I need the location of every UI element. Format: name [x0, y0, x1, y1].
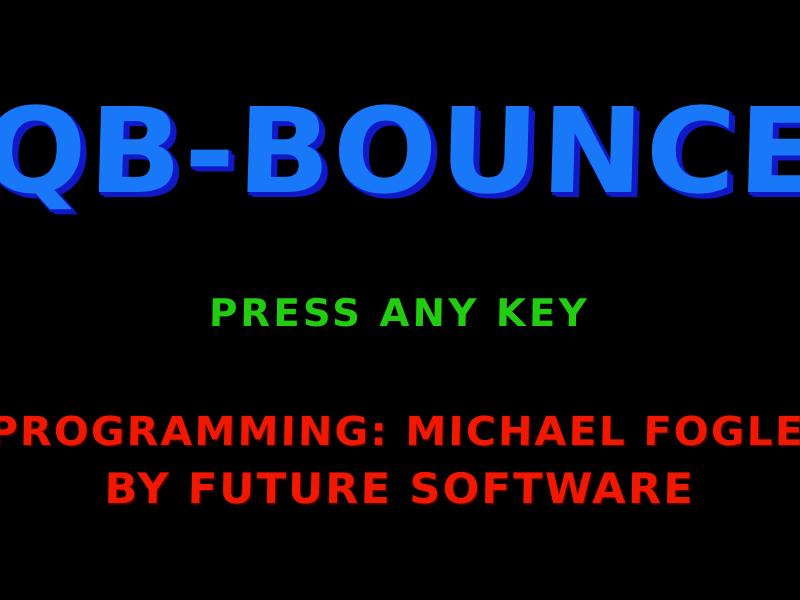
press-any-key-prompt[interactable]: PRESS ANY KEY	[209, 294, 590, 332]
prompt-container: PRESS ANY KEY	[0, 294, 800, 332]
game-title-screen[interactable]: QB-BOUNCE PRESS ANY KEY PROGRAMMING: MIC…	[0, 0, 800, 600]
credit-line-programming: PROGRAMMING: MICHAEL FOGLEMAN	[0, 412, 800, 452]
game-title: QB-BOUNCE	[0, 92, 800, 210]
credits-container: PROGRAMMING: MICHAEL FOGLEMAN BY FUTURE …	[0, 412, 800, 510]
title-container: QB-BOUNCE	[0, 92, 800, 210]
credit-line-publisher: BY FUTURE SOFTWARE	[0, 468, 800, 510]
